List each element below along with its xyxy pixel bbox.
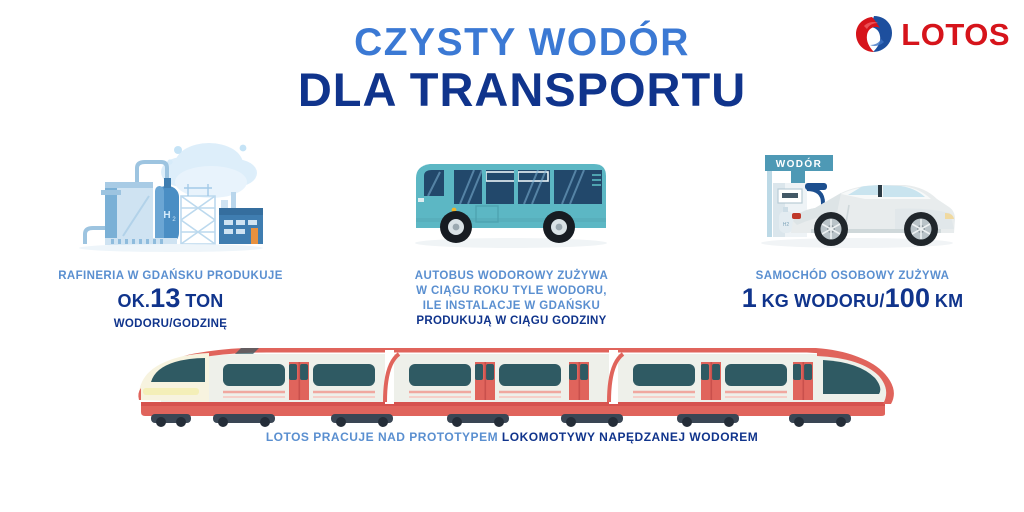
car-value-number: 1	[742, 283, 757, 313]
refinery-value: OK.13 TON	[58, 285, 283, 316]
headline-block: CZYSTY WODÓR DLA TRANSPORTU	[0, 22, 1024, 116]
refinery-caption-top: RAFINERIA W GDAŃSKU PRODUKUJE	[58, 269, 283, 284]
car-value-unit: KG WODORU/	[762, 291, 885, 311]
car-value-unit-2: KM	[935, 291, 963, 311]
train-caption-light: LOTOS PRACUJE NAD PROTOTYPEM	[266, 430, 498, 444]
infographic-page: LOTOS CZYSTY WODÓR DLA TRANSPORTU	[0, 0, 1024, 512]
refinery-value-prefix: OK.	[118, 291, 151, 311]
column-bus: AUTOBUS WODOROWY ZUŻYWA W CIĄGU ROKU TYL…	[341, 140, 682, 332]
bus-caption-line-1: AUTOBUS WODOROWY ZUŻYWA	[415, 269, 608, 284]
stats-columns: H 2	[0, 140, 1024, 332]
car-value-number-2: 100	[885, 283, 931, 313]
headline-line-2: DLA TRANSPORTU	[0, 64, 1024, 116]
car-value: 1 KG WODORU/100 KM	[742, 285, 964, 316]
bus-caption-line-2: W CIĄGU ROKU TYLE WODORU,	[415, 284, 608, 299]
train-caption: LOTOS PRACUJE NAD PROTOTYPEM LOKOMOTYWY …	[0, 430, 1024, 444]
refinery-illustration: H 2	[71, 140, 271, 255]
station-sign-text: WODÓR	[776, 157, 822, 170]
car-caption: SAMOCHÓD OSOBOWY ZUŻYWA 1 KG WODORU/100 …	[742, 269, 964, 317]
headline-line-1: CZYSTY WODÓR	[0, 22, 1024, 64]
refinery-caption-bottom: WODORU/GODZINĘ	[58, 317, 283, 332]
svg-text:H: H	[163, 210, 170, 221]
refinery-value-number: 13	[150, 283, 180, 313]
train-caption-bold: LOKOMOTYWY NAPĘDZANEJ WODOREM	[502, 430, 758, 444]
column-refinery: H 2	[0, 140, 341, 332]
train-illustration	[0, 348, 1024, 428]
bus-caption: AUTOBUS WODOROWY ZUŻYWA W CIĄGU ROKU TYL…	[415, 269, 608, 329]
bus-caption-bold: PRODUKUJĄ W CIĄGU GODZINY	[415, 314, 608, 329]
bus-caption-line-3: ILE INSTALACJE W GDAŃSKU	[415, 299, 608, 314]
column-car: WODÓR H2	[682, 140, 1023, 332]
svg-text:H2: H2	[783, 222, 790, 228]
bus-illustration	[404, 140, 619, 255]
car-fueling-illustration: WODÓR H2	[745, 140, 960, 255]
refinery-value-unit: TON	[185, 291, 223, 311]
car-caption-top: SAMOCHÓD OSOBOWY ZUŻYWA	[742, 269, 964, 284]
refinery-caption: RAFINERIA W GDAŃSKU PRODUKUJE OK.13 TON …	[58, 269, 283, 332]
